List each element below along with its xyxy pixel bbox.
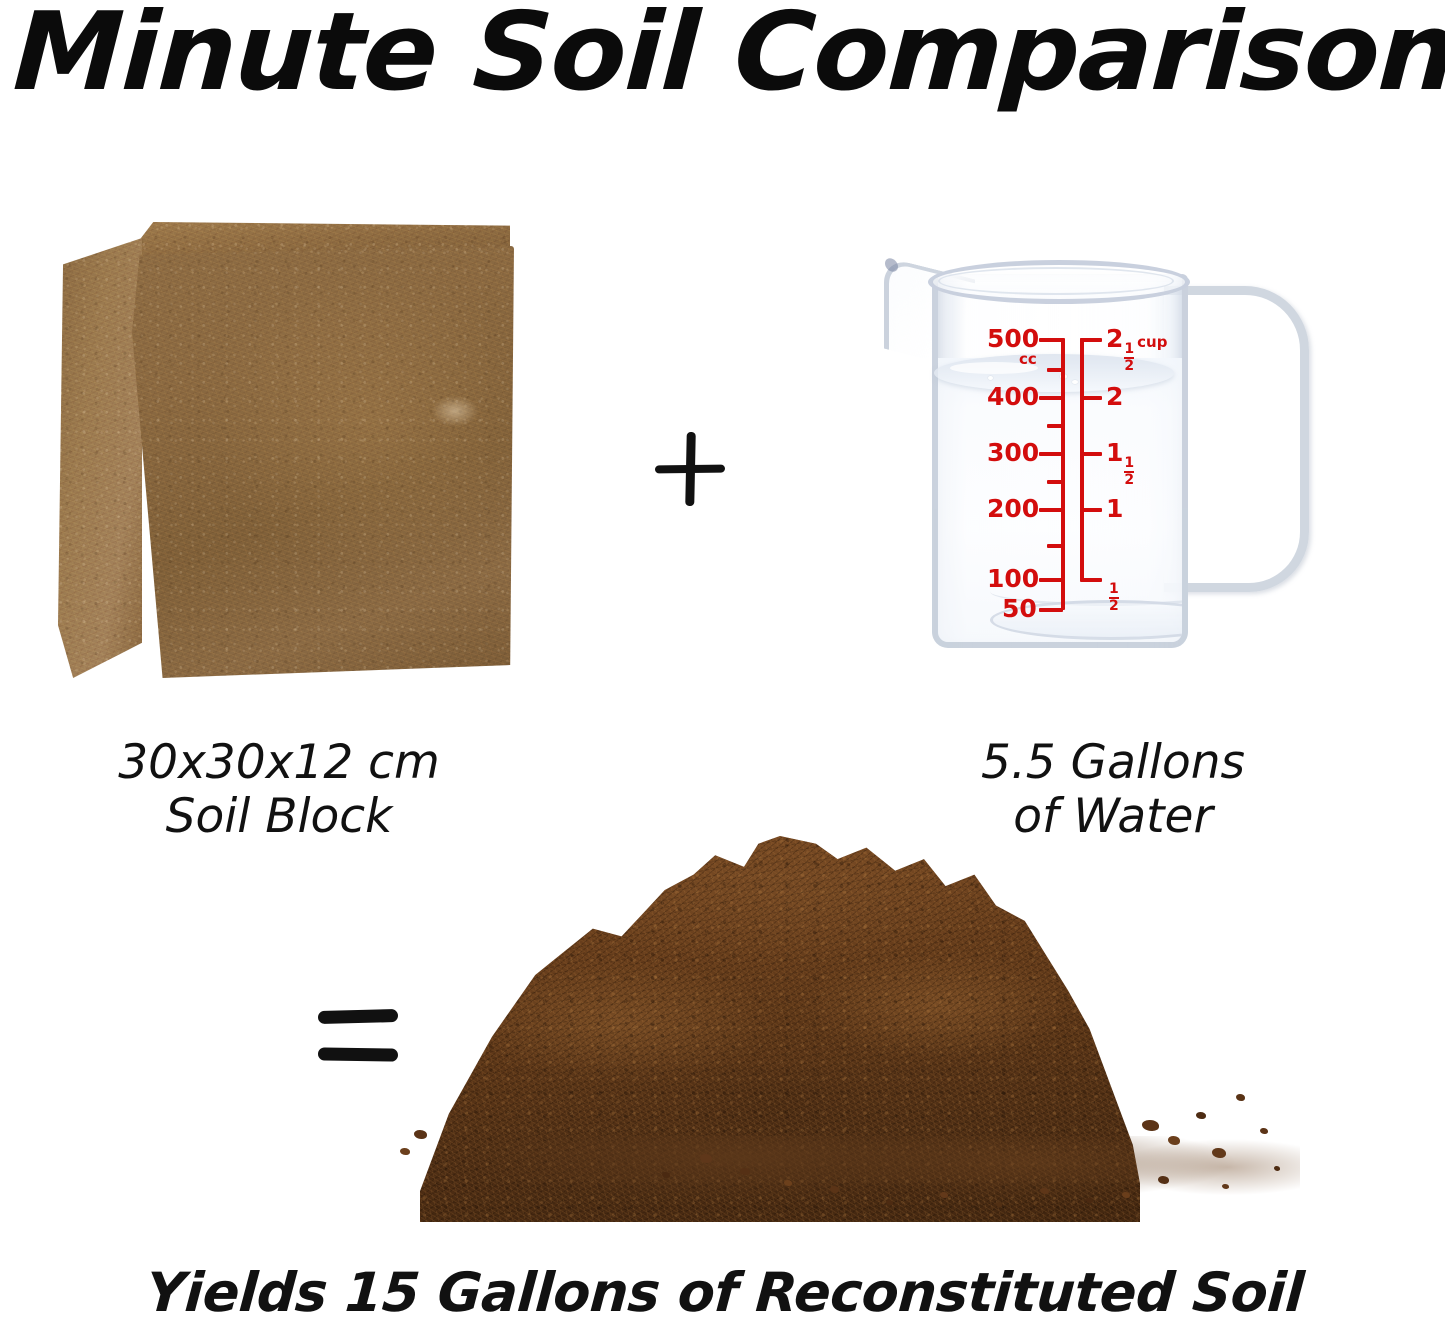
soil-debris (1236, 1094, 1245, 1101)
soil-block-image (56, 222, 526, 684)
soil-pile-image (400, 836, 1300, 1256)
soil-debris (1086, 1198, 1093, 1203)
soil-debris (1212, 1148, 1226, 1158)
soil-debris (940, 1192, 948, 1198)
soil-debris (996, 1202, 1002, 1207)
yield-caption: Yields 15 Gallons of Reconstituted Soil (58, 1262, 1392, 1324)
water-caption: 5.5 Gallons of Water (918, 736, 1308, 844)
soil-pile-mound (420, 836, 1140, 1222)
soil-debris (1158, 1176, 1169, 1184)
equals-sign-icon (318, 1006, 398, 1078)
soil-debris (700, 1154, 712, 1163)
bubble (1072, 380, 1078, 384)
plus-sign-icon (655, 432, 725, 506)
soil-debris (740, 1168, 750, 1175)
grain-texture-overlay (58, 238, 142, 678)
equals-top-stroke (318, 1009, 398, 1024)
bubble (988, 376, 993, 380)
equals-bottom-stroke (318, 1047, 398, 1061)
bubble (1060, 374, 1067, 379)
soil-debris (1040, 1188, 1049, 1194)
plus-horizontal-stroke (655, 465, 725, 474)
soil-debris (400, 1148, 410, 1155)
fiber-texture-overlay (58, 238, 142, 678)
fiber-texture-overlay (132, 246, 514, 678)
soil-debris (1168, 1136, 1180, 1145)
water-surface-ellipse (934, 354, 1174, 392)
soil-debris (1196, 1112, 1206, 1119)
soil-block-front-face (132, 246, 514, 678)
soil-pile-texture (420, 836, 1140, 1222)
soil-debris (1122, 1192, 1130, 1198)
soil-debris (414, 1130, 427, 1139)
soil-debris (784, 1180, 792, 1186)
infographic-canvas: Minute Soil Comparison (0, 0, 1445, 1328)
grain-texture-overlay (132, 246, 514, 678)
soil-block-caption: 30x30x12 cm Soil Block (54, 736, 504, 844)
soil-debris (1274, 1166, 1280, 1171)
soil-block-side-face (58, 238, 142, 678)
soil-debris (1260, 1128, 1268, 1134)
soil-debris (830, 1186, 839, 1193)
measuring-cup-rim-inner (938, 267, 1174, 295)
soil-debris (886, 1200, 893, 1205)
measuring-cup-image: 500 cc 400 300 200 100 50 212cup 2 112 1… (884, 258, 1320, 650)
soil-block-highlight (432, 396, 478, 426)
page-title: Minute Soil Comparison (11, 0, 1445, 114)
soil-debris (1222, 1184, 1229, 1189)
measuring-cup-body (932, 274, 1188, 648)
soil-debris (1142, 1120, 1159, 1131)
soil-debris (662, 1172, 670, 1178)
